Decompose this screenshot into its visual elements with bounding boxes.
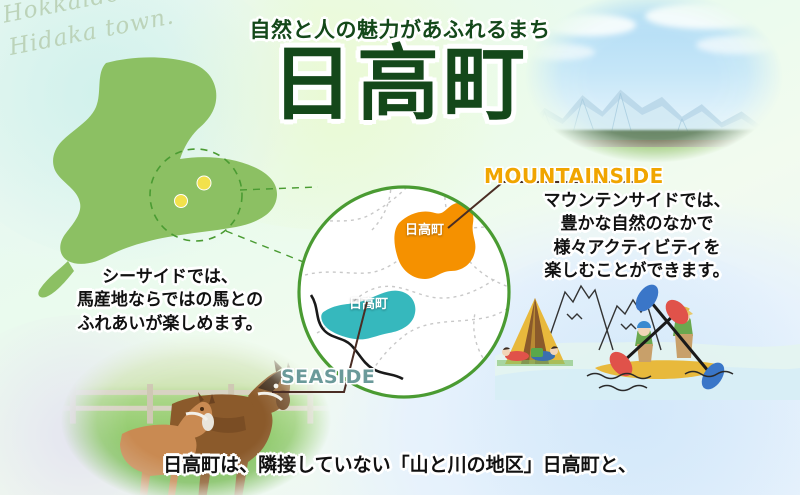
mountainside-label: MOUNTAINSIDE (484, 164, 664, 188)
map-marker-seaside (175, 195, 188, 208)
seaside-line-2: 馬産地ならではの馬との (40, 289, 300, 312)
seaside-region-label: 日高町 (349, 293, 388, 312)
mountainside-line-1: マウンテンサイドでは、 (512, 190, 762, 213)
mountainside-line-4: 楽しむことができます。 (512, 260, 762, 283)
seaside-line-1: シーサイドでは、 (40, 266, 300, 289)
seaside-label: SEASIDE (281, 366, 375, 388)
page-title: 日高町 (0, 44, 800, 126)
map-marker-mountainside (197, 176, 211, 190)
bottom-line-1: 日高町は、隣接していない「山と川の地区」日高町と、 (0, 452, 800, 479)
mountainside-description: マウンテンサイドでは、 豊かな自然のなかで 様々アクティビティを 楽しむことがで… (512, 190, 762, 284)
bottom-description: 日高町は、隣接していない「山と川の地区」日高町と、 「海沿いの地区」門別町の2町… (0, 398, 800, 495)
activity-illustration (495, 272, 800, 400)
seaside-description: シーサイドでは、 馬産地ならではの馬との ふれあいが楽しめます。 (40, 266, 300, 336)
seaside-line-3: ふれあいが楽しめます。 (40, 313, 300, 336)
mountainside-region-label: 日高町 (405, 219, 444, 238)
poster-canvas: 日高町 日高町 (0, 0, 800, 495)
mountainside-line-3: 様々アクティビティを (512, 237, 762, 260)
mountainside-line-2: 豊かな自然のなかで (512, 213, 762, 236)
